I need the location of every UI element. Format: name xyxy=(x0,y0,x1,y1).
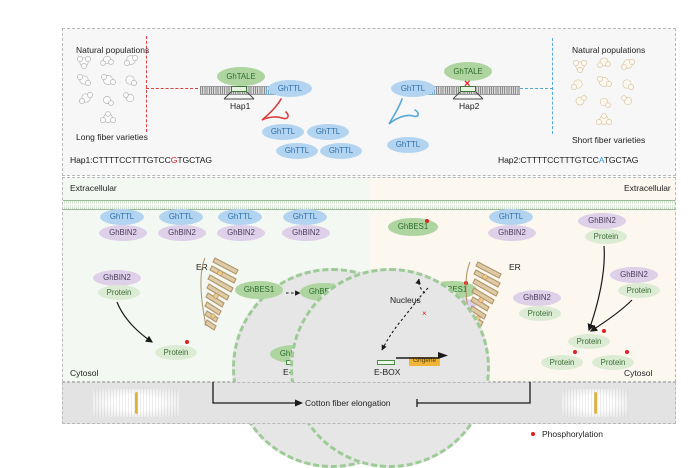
ghttl-membrane-chip-left-3: GhTTL xyxy=(283,209,327,225)
extracellular-label-right: Extracellular xyxy=(624,184,671,193)
top-left-fiber-varieties-label: Long fiber varieties xyxy=(76,133,148,142)
protein-complex-chip-left: Protein xyxy=(98,285,140,300)
figure-root: Natural populations Long fiber varieties… xyxy=(0,0,700,448)
ghttl-membrane-chip-right-0: GhTTL xyxy=(489,209,533,225)
hap1-horizontal-connector xyxy=(146,88,198,89)
ebox-box-right xyxy=(377,360,395,365)
top-right-natural-populations-label: Natural populations xyxy=(572,46,645,55)
ghttl-membrane-chip-left-1: GhTTL xyxy=(159,209,203,225)
cytosol-label-right: Cytosol xyxy=(624,369,652,378)
ghttl-chip-hap2-main: GhTTL xyxy=(391,80,435,97)
top-left-natural-populations-label: Natural populations xyxy=(76,46,149,55)
ghttl-chip-hap2-pool-0: GhTTL xyxy=(387,137,429,153)
ghbin2-complex-chip-right-1: GhBIN2 xyxy=(610,267,658,283)
ghbin2-complex-chip-right-0: GhBIN2 xyxy=(578,213,626,229)
hap1-binding-site-box xyxy=(231,86,247,92)
ghbin2-membrane-chip-left-3: GhBIN2 xyxy=(282,225,330,241)
plasma-membrane xyxy=(63,200,675,210)
ghbes1-er-chip-left: GhBES1 xyxy=(235,281,283,299)
ghgene-box-right: Ghgene xyxy=(409,357,440,366)
ghbin2-membrane-chip-left-1: GhBIN2 xyxy=(158,225,206,241)
phospho-protein-chip-right-1: Protein xyxy=(541,355,583,370)
protein-complex-chip-right-2: Protein xyxy=(519,306,561,321)
ghbin2-complex-chip-right-2: GhBIN2 xyxy=(513,290,561,306)
free-protein-chip-left: Protein xyxy=(155,345,197,360)
short-fiber-illustration xyxy=(562,389,628,417)
ghbes1-phospho-chip-right: GhBES1 xyxy=(388,218,438,236)
cotton-fiber-elongation-label: Cotton fiber elongation xyxy=(305,399,391,408)
protein-complex-chip-right-1: Protein xyxy=(618,283,660,298)
er-label-right: ER xyxy=(509,263,521,272)
phospho-dot-right-1 xyxy=(573,350,577,354)
ghbin2-complex-chip-left: GhBIN2 xyxy=(93,270,141,286)
ghttl-membrane-chip-left-2: GhTTL xyxy=(218,209,262,225)
ghttl-chip-hap1-pool-3: GhTTL xyxy=(320,143,362,159)
long-fiber-illustration xyxy=(93,389,179,417)
er-label-left: ER xyxy=(196,263,208,272)
ghttl-membrane-chip-left-0: GhTTL xyxy=(100,209,144,225)
phospho-dot-bes1-right-er xyxy=(464,281,468,285)
ghttl-chip-hap1-pool-2: GhTTL xyxy=(276,143,318,159)
phospho-dot-bes1-right-top xyxy=(425,219,429,223)
phospho-dot-left-protein xyxy=(185,340,189,344)
phosphorylation-legend-label: Phosphorylation xyxy=(542,430,603,439)
hap1-label: Hap1 xyxy=(230,102,250,111)
extracellular-label-left: Extracellular xyxy=(70,184,117,193)
phospho-dot-right-0 xyxy=(602,329,606,333)
protein-complex-chip-right-0: Protein xyxy=(585,229,627,244)
phospho-dot-right-2 xyxy=(625,350,629,354)
ghttl-chip-hap1-pool-0: GhTTL xyxy=(262,124,304,140)
binding-blocked-x-icon: × xyxy=(464,79,470,90)
ghttl-chip-hap1-pool-1: GhTTL xyxy=(307,124,349,140)
ghttl-chip-hap1-main: GhTTL xyxy=(268,80,312,97)
top-right-fiber-varieties-label: Short fiber varieties xyxy=(572,136,645,145)
phospho-protein-chip-right-0: Protein xyxy=(568,334,610,349)
cytosol-label-left: Cytosol xyxy=(70,369,98,378)
hap2-label: Hap2 xyxy=(459,102,479,111)
nucleus-label-right: Nucleus xyxy=(390,296,421,305)
ghbin2-membrane-chip-left-2: GhBIN2 xyxy=(217,225,265,241)
ghbin2-membrane-chip-right-0: GhBIN2 xyxy=(488,225,536,241)
hap2-horizontal-connector xyxy=(520,88,553,89)
ghbin2-membrane-chip-left-0: GhBIN2 xyxy=(99,225,147,241)
ebox-label-right: E-BOX xyxy=(374,368,400,377)
phosphorylation-legend-dot-icon xyxy=(531,432,535,436)
ghtale-chip-hap1: GhTALE xyxy=(217,67,265,86)
hap2-sequence: Hap2:CTTTTCCTTTGTCCATGCTAG xyxy=(498,155,638,165)
hap2-vertical-divider xyxy=(552,38,553,134)
hap1-sequence: Hap1:CTTTTCCTTTGTCCGTGCTAG xyxy=(70,155,212,165)
hap2-dna-right-segment xyxy=(436,86,520,95)
